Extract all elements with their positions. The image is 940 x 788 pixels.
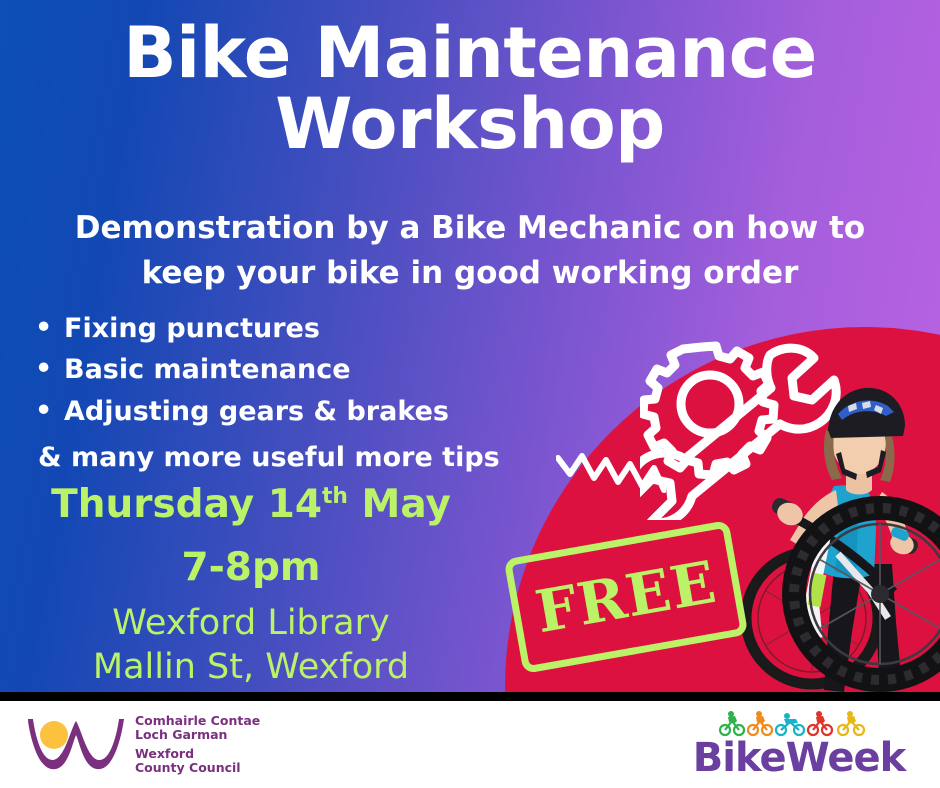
topics-list: Fixing punctures Basic maintenance Adjus… xyxy=(26,308,586,432)
divider-strip xyxy=(0,692,940,701)
list-item: Adjusting gears & brakes xyxy=(26,391,586,432)
event-time: 7-8pm xyxy=(26,545,476,590)
council-line-3: Wexford xyxy=(135,747,260,761)
free-stamp-label: FREE xyxy=(531,548,722,647)
poster-main-panel: Bike Maintenance Workshop Demonstration … xyxy=(0,0,940,692)
subtitle-line-1: Demonstration by a Bike Mechanic on how … xyxy=(40,206,900,251)
subtitle-line-2: keep your bike in good working order xyxy=(40,251,900,296)
event-date-suffix: May xyxy=(348,482,451,527)
poster-subtitle: Demonstration by a Bike Mechanic on how … xyxy=(40,206,900,296)
poster-canvas: Bike Maintenance Workshop Demonstration … xyxy=(0,0,940,788)
list-item: Basic maintenance xyxy=(26,349,586,390)
title-line-1: Bike Maintenance xyxy=(0,18,940,89)
bikeweek-wordmark: BikeWeek xyxy=(676,737,922,779)
title-line-2: Workshop xyxy=(0,89,940,160)
wexford-county-council-logo: Comhairle Contae Loch Garman Wexford Cou… xyxy=(24,713,260,775)
zigzag-icon xyxy=(556,448,666,502)
event-venue-name: Wexford Library xyxy=(26,603,476,643)
bikeweek-riders-icon xyxy=(719,709,879,737)
list-item: Fixing punctures xyxy=(26,308,586,349)
council-text-block: Comhairle Contae Loch Garman Wexford Cou… xyxy=(135,714,260,775)
council-line-2: Loch Garman xyxy=(135,728,260,742)
page-title: Bike Maintenance Workshop xyxy=(0,18,940,161)
event-date-ordinal: th xyxy=(322,484,348,509)
poster-footer: Comhairle Contae Loch Garman Wexford Cou… xyxy=(0,701,940,788)
cyclist-with-mountain-bike xyxy=(716,368,940,692)
council-line-1: Comhairle Contae xyxy=(135,714,260,728)
council-line-4: County Council xyxy=(135,761,260,775)
event-date: Thursday 14th May xyxy=(26,482,476,527)
council-wave-icon xyxy=(24,713,128,775)
event-date-prefix: Thursday 14 xyxy=(51,482,322,527)
topics-extra-line: & many more useful more tips xyxy=(38,442,500,473)
event-venue-address: Mallin St, Wexford xyxy=(26,647,476,687)
bikeweek-logo: BikeWeek xyxy=(676,709,922,779)
